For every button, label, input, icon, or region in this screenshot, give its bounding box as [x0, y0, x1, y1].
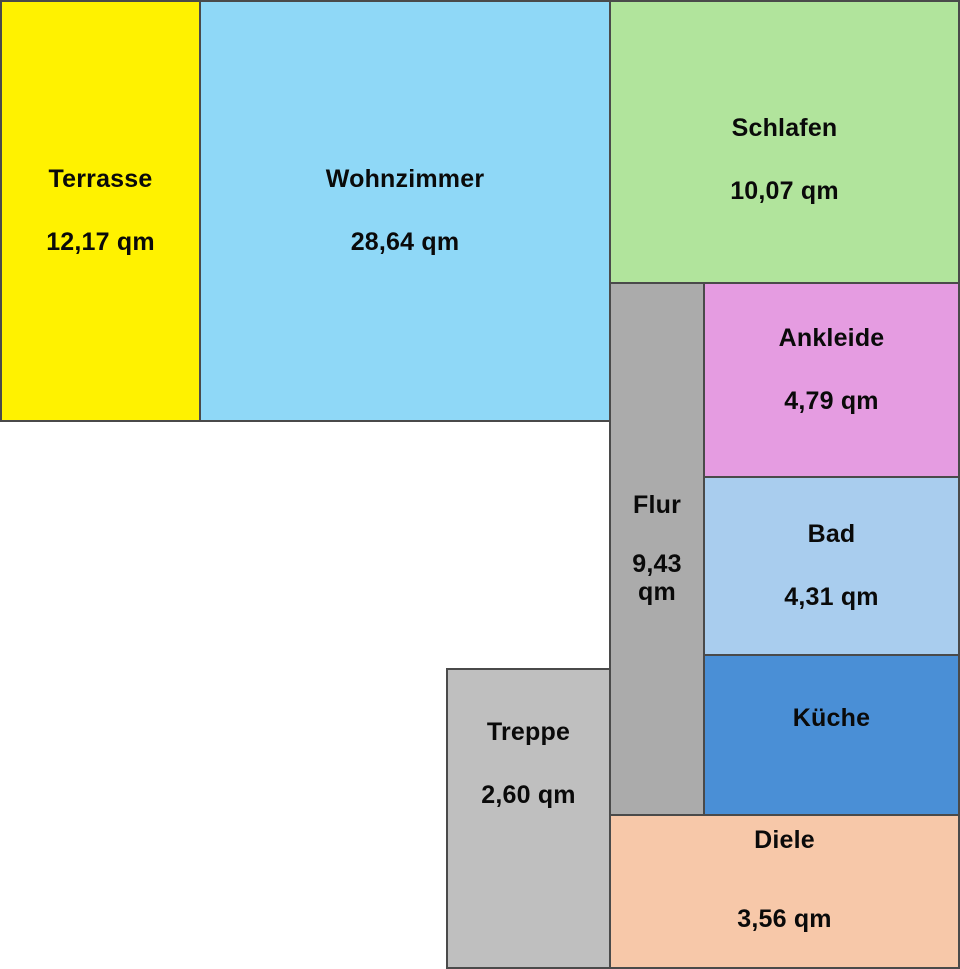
room-area-terrasse: 12,17 qm — [46, 228, 155, 257]
room-name-bad: Bad — [808, 520, 856, 549]
room-area-flur: 9,43 qm — [611, 550, 703, 608]
room-area-ankleide: 4,79 qm — [784, 387, 879, 416]
floor-plan: Terrasse12,17 qmWohnzimmer28,64 qmSchlaf… — [0, 0, 960, 969]
room-name-terrasse: Terrasse — [49, 165, 153, 194]
room-name-treppe: Treppe — [487, 718, 570, 747]
room-ankleide[interactable]: Ankleide4,79 qm — [703, 282, 960, 478]
room-name-ankleide: Ankleide — [779, 324, 885, 353]
room-wohnzimmer[interactable]: Wohnzimmer28,64 qm — [199, 0, 611, 422]
room-area-bad: 4,31 qm — [784, 583, 879, 612]
room-name-flur: Flur — [633, 491, 681, 520]
room-diele[interactable]: Diele3,56 qm — [609, 814, 960, 969]
room-schlafen[interactable]: Schlafen10,07 qm — [609, 0, 960, 284]
room-area-treppe: 2,60 qm — [481, 781, 576, 810]
room-kueche[interactable]: Küche — [703, 654, 960, 816]
room-name-schlafen: Schlafen — [732, 114, 838, 143]
room-flur[interactable]: Flur9,43 qm — [609, 282, 705, 816]
room-area-wohnzimmer: 28,64 qm — [351, 228, 460, 257]
room-area-schlafen: 10,07 qm — [730, 177, 839, 206]
room-terrasse[interactable]: Terrasse12,17 qm — [0, 0, 201, 422]
room-treppe[interactable]: Treppe2,60 qm — [446, 668, 611, 969]
room-name-kueche: Küche — [793, 704, 870, 733]
room-name-wohnzimmer: Wohnzimmer — [326, 165, 485, 194]
room-name-diele: Diele — [754, 826, 815, 855]
room-bad[interactable]: Bad4,31 qm — [703, 476, 960, 656]
room-area-diele: 3,56 qm — [737, 905, 832, 934]
